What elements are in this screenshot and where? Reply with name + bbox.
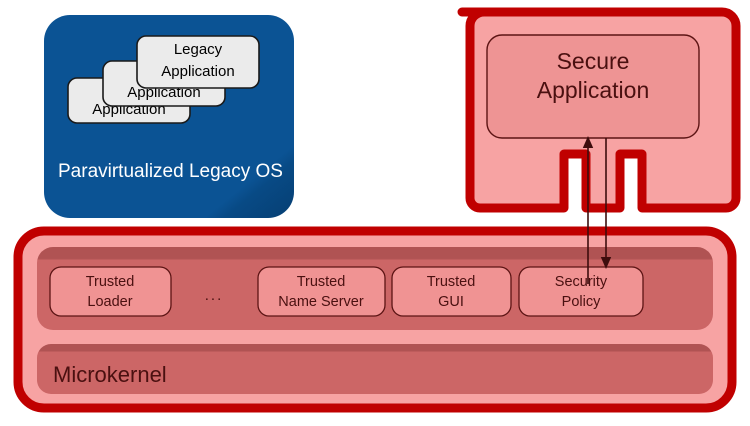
- legacy-os-label: Paravirtualized Legacy OS: [58, 161, 283, 182]
- list-item[interactable]: Trusted GUI: [392, 267, 511, 316]
- microkernel-label: Microkernel: [53, 362, 167, 387]
- services-ellipsis: ...: [205, 287, 224, 304]
- service-security-policy-line2: Policy: [562, 294, 601, 310]
- service-trusted-loader-line2: Loader: [87, 294, 132, 310]
- list-item[interactable]: Security Policy: [519, 267, 643, 316]
- trusted-services-list: Trusted Loader ... Trusted Name Server T…: [50, 267, 643, 316]
- service-trusted-name-server-line2: Name Server: [278, 294, 364, 310]
- legacy-application-1-line1: Legacy: [174, 41, 223, 58]
- diagram-canvas: Secure Application Legacy Application Le…: [0, 0, 750, 426]
- secure-application-label-line1: Secure: [557, 48, 630, 74]
- architecture-diagram: Secure Application Legacy Application Le…: [0, 0, 750, 426]
- list-item[interactable]: Trusted Name Server: [258, 267, 385, 316]
- service-trusted-name-server-line1: Trusted: [297, 274, 346, 290]
- paravirtualized-legacy-os[interactable]: Legacy Application Legacy Application Le…: [44, 15, 294, 218]
- secure-application-container: Secure Application: [462, 12, 736, 208]
- service-trusted-loader-line1: Trusted: [86, 274, 135, 290]
- legacy-application-1-line2: Application: [161, 63, 234, 80]
- service-security-policy-line1: Security: [555, 274, 608, 290]
- secure-application-label-line2: Application: [537, 77, 650, 103]
- service-trusted-gui-line2: GUI: [438, 294, 464, 310]
- trusted-computing-base-layer: Trusted Loader ... Trusted Name Server T…: [18, 231, 732, 408]
- list-item[interactable]: Legacy Application: [137, 36, 259, 88]
- list-item[interactable]: Trusted Loader: [50, 267, 171, 316]
- service-trusted-gui-line1: Trusted: [427, 274, 476, 290]
